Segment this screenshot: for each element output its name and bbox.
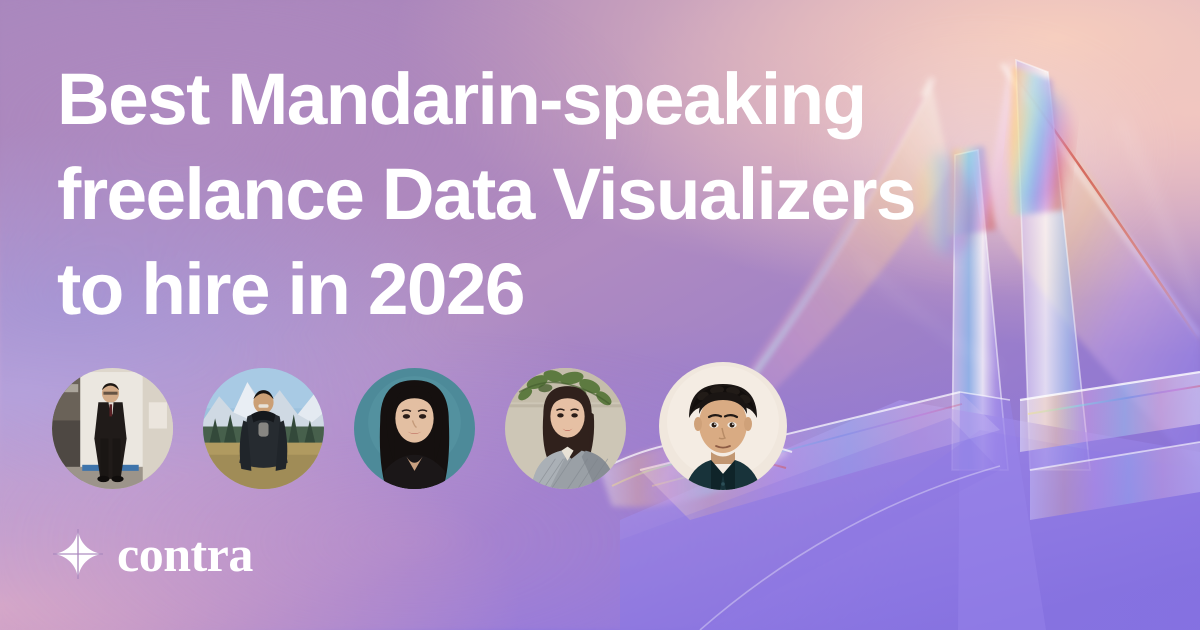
freelancer-avatar-row <box>52 360 812 505</box>
avatar[interactable] <box>659 362 787 490</box>
contra-four-point-star-icon <box>52 528 104 580</box>
avatar[interactable] <box>52 368 173 489</box>
social-share-card: Best Mandarin-speaking freelance Data Vi… <box>0 0 1200 630</box>
contra-logo[interactable]: contra <box>52 528 253 580</box>
avatar[interactable] <box>354 368 475 489</box>
avatar[interactable] <box>505 368 626 489</box>
contra-wordmark: contra <box>117 529 253 579</box>
page-title: Best Mandarin-speaking freelance Data Vi… <box>57 52 1067 337</box>
avatar[interactable] <box>203 368 324 489</box>
